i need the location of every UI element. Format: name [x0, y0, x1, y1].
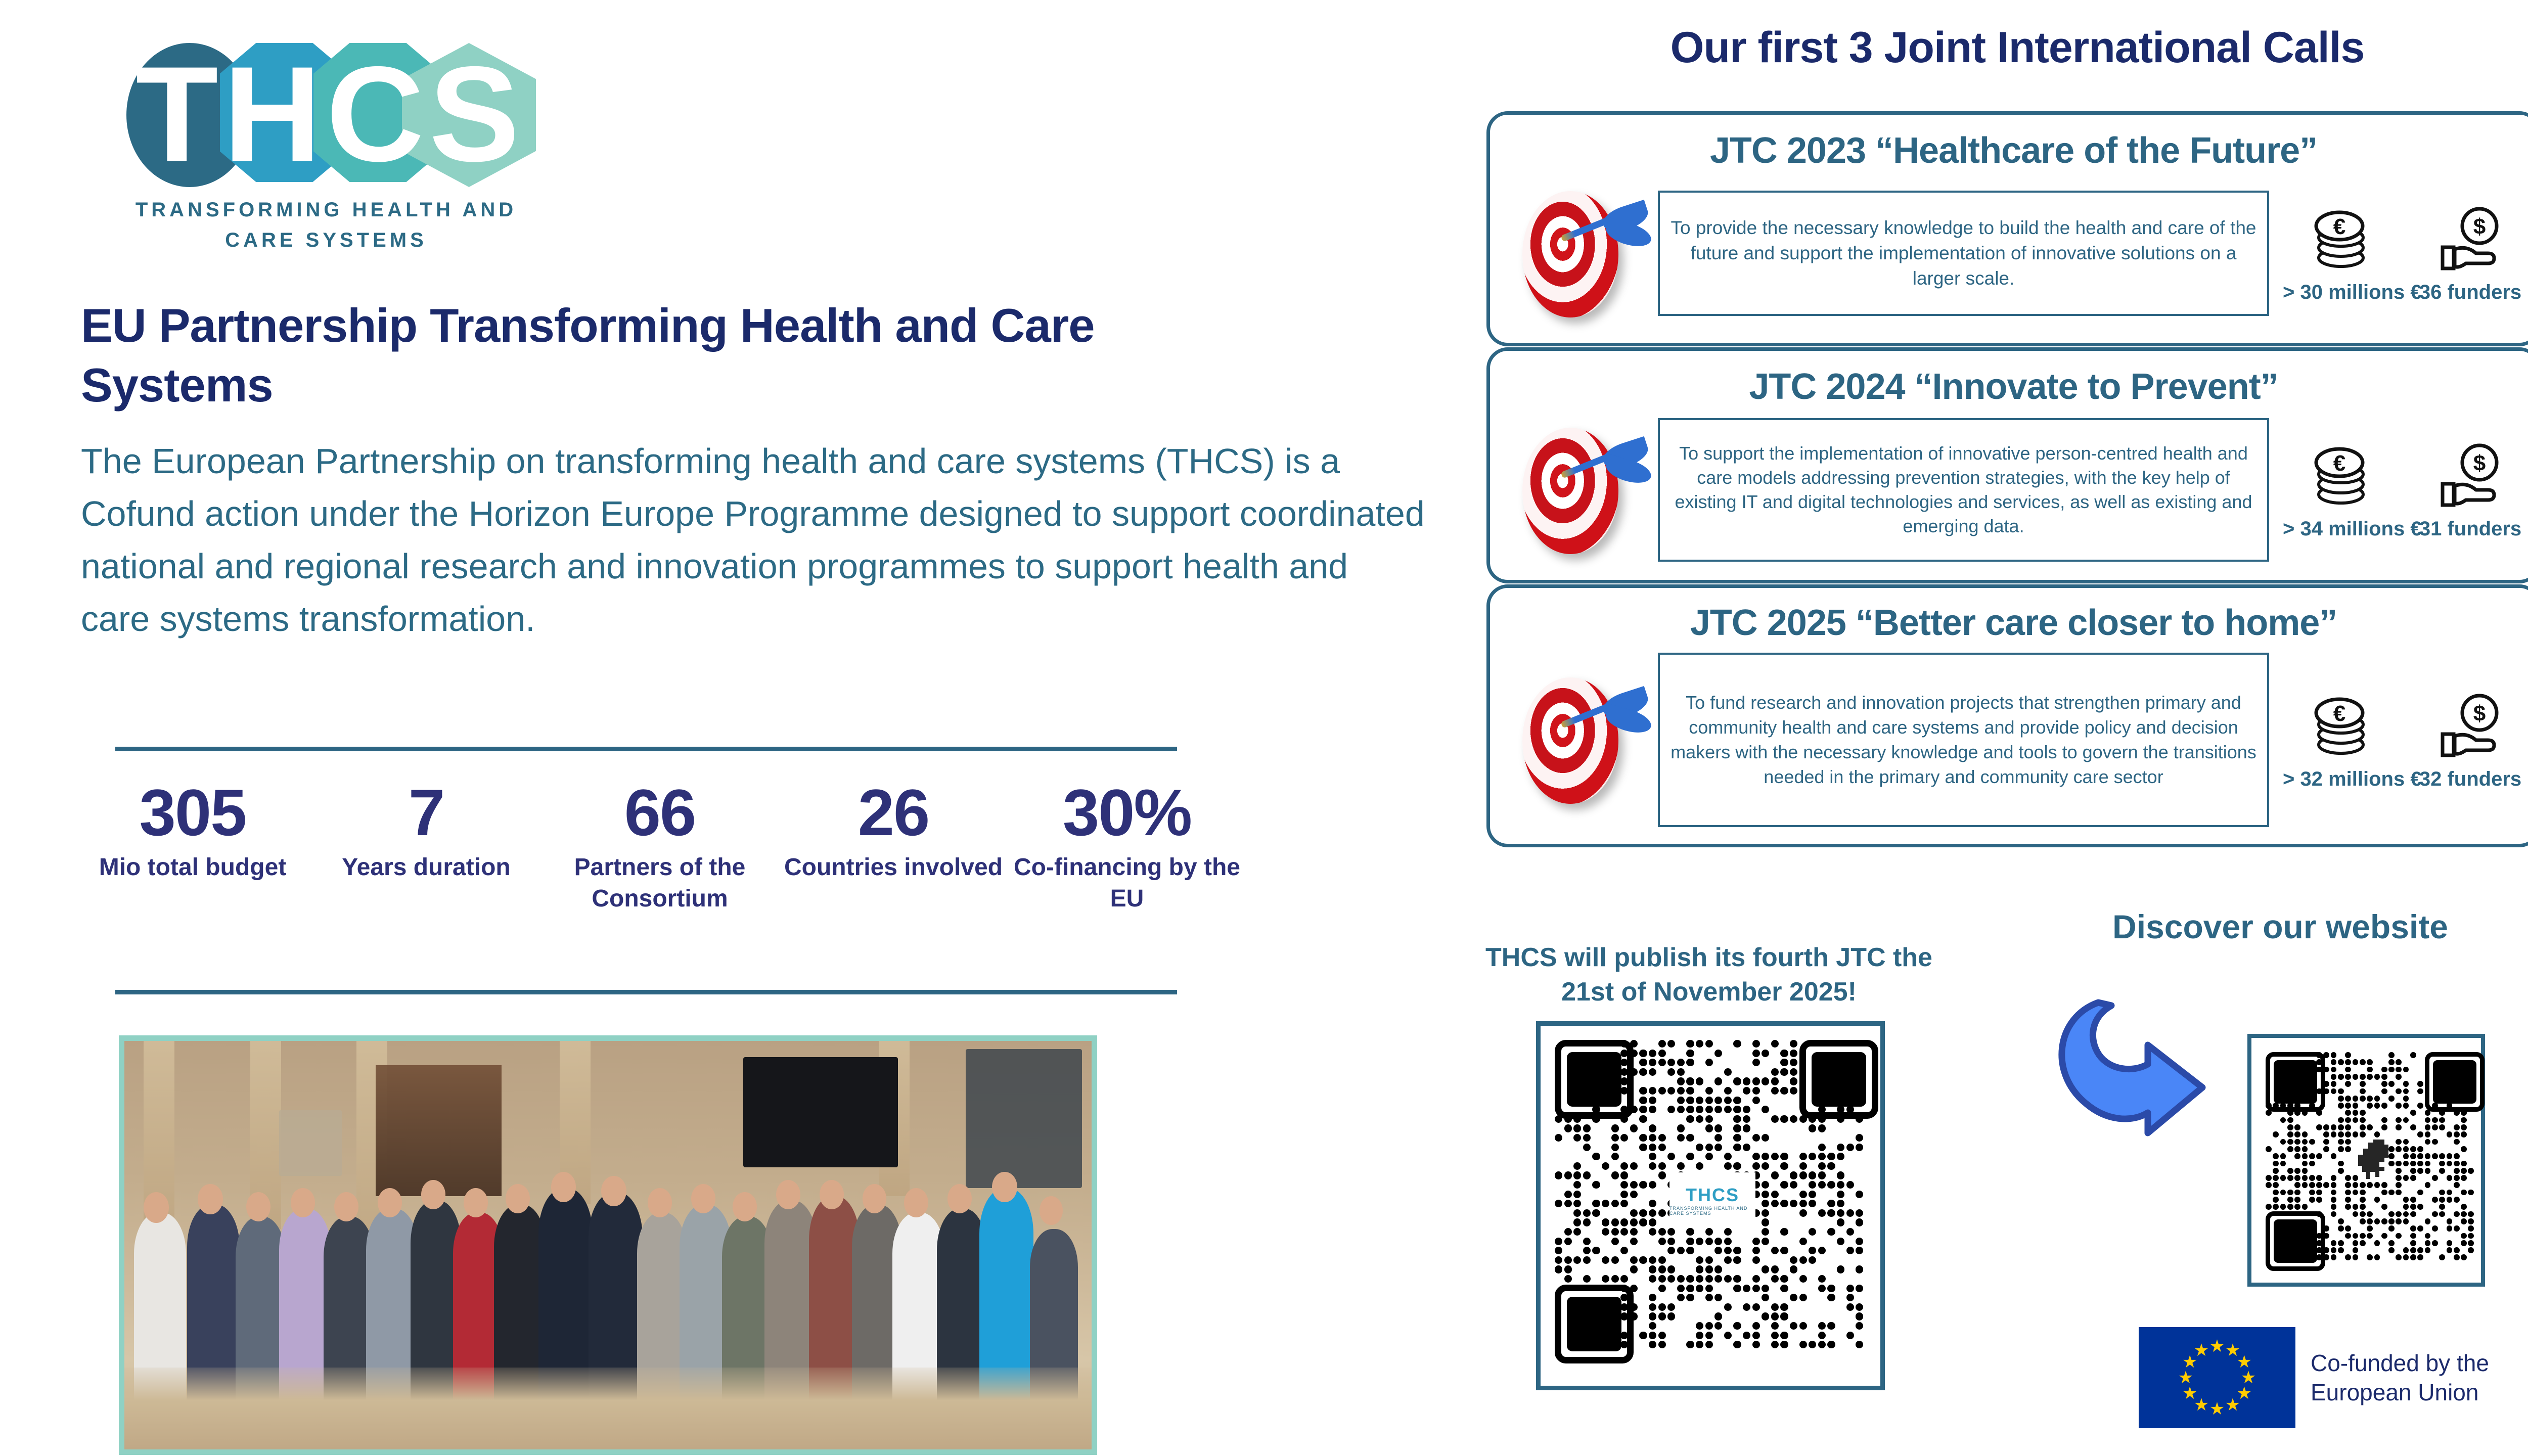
- stat-label: Mio total budget: [76, 852, 309, 883]
- funders-figure: $ 31 funders: [2412, 439, 2528, 540]
- svg-text:€: €: [2333, 214, 2345, 239]
- qr-finder-pattern: [2425, 1052, 2485, 1112]
- hand-coin-icon: $: [2412, 202, 2528, 278]
- budget-figure: € > 30 millions €: [2283, 202, 2399, 304]
- funders-figure: $ 32 funders: [2412, 689, 2528, 791]
- eu-star-icon: ★: [2182, 1385, 2197, 1402]
- eu-cofunded-logo: ★★★★★★★★★★★★ Co-funded by the European U…: [2139, 1327, 2513, 1428]
- svg-text:$: $: [2473, 701, 2486, 726]
- funders-label: 36 funders: [2412, 281, 2528, 304]
- eu-star-icon: ★: [2209, 1400, 2225, 1418]
- call-card-jtc-2025[interactable]: JTC 2025 “Better care closer to home” To…: [1486, 584, 2528, 847]
- hand-coin-icon: $: [2412, 689, 2528, 765]
- qr-code-website[interactable]: [2247, 1034, 2485, 1287]
- group-photo: [119, 1035, 1097, 1455]
- funders-label: 32 funders: [2412, 768, 2528, 791]
- qr-finder-pattern: [1555, 1285, 1634, 1363]
- stat-label: Countries involved: [777, 852, 1010, 883]
- stat-label: Co-financing by the EU: [1010, 852, 1244, 915]
- divider-top: [115, 747, 1177, 751]
- call-card-title: JTC 2024 “Innovate to Prevent”: [1490, 366, 2528, 407]
- budget-figure: € > 34 millions €: [2283, 439, 2399, 540]
- qr-code-jtc[interactable]: THCS TRANSFORMING HEALTH AND CARE SYSTEM…: [1536, 1021, 1885, 1390]
- stat-value: 26: [777, 779, 1010, 847]
- euro-coins-icon: €: [2283, 202, 2399, 278]
- curved-arrow-icon: [2043, 988, 2215, 1140]
- euro-coins-icon: €: [2283, 439, 2399, 515]
- stat-value: 305: [76, 779, 309, 847]
- divider-bottom: [115, 990, 1177, 994]
- target-icon: [1501, 180, 1653, 327]
- logo-tagline: TRANSFORMING HEALTH AND CARE SYSTEMS: [129, 195, 523, 255]
- svg-text:$: $: [2473, 451, 2486, 476]
- qr-finder-pattern: [2266, 1211, 2325, 1271]
- eu-flag: ★★★★★★★★★★★★: [2139, 1327, 2295, 1428]
- call-card-title: JTC 2025 “Better care closer to home”: [1490, 602, 2528, 644]
- stat-value: 30%: [1010, 779, 1244, 847]
- call-description: To provide the necessary knowledge to bu…: [1658, 191, 2269, 316]
- call-card-jtc-2024[interactable]: JTC 2024 “Innovate to Prevent” To suppor…: [1486, 347, 2528, 583]
- stat-value: 7: [309, 779, 543, 847]
- intro-paragraph: The European Partnership on transforming…: [81, 435, 1426, 645]
- eu-star-icon: ★: [2194, 1342, 2209, 1359]
- call-card-title: JTC 2023 “Healthcare of the Future”: [1490, 130, 2528, 171]
- budget-label: > 34 millions €: [2283, 518, 2399, 540]
- page-title: EU Partnership Transforming Health and C…: [81, 296, 1294, 415]
- svg-text:€: €: [2333, 451, 2345, 476]
- key-figures: 305 Mio total budget 7 Years duration 66…: [76, 779, 1244, 981]
- budget-label: > 32 millions €: [2283, 768, 2399, 791]
- funders-label: 31 funders: [2412, 518, 2528, 540]
- eu-cofunded-text: Co-funded by the European Union: [2311, 1348, 2513, 1407]
- euro-coins-icon: €: [2283, 689, 2399, 765]
- qr-finder-pattern: [1555, 1040, 1634, 1119]
- stat-partners: 66 Partners of the Consortium: [543, 779, 777, 981]
- stat-countries: 26 Countries involved: [777, 779, 1010, 981]
- qr-finder-pattern: [1799, 1040, 1878, 1119]
- stat-label: Years duration: [309, 852, 543, 883]
- stat-duration: 7 Years duration: [309, 779, 543, 981]
- jtc4-announcement: THCS will publish its fourth JTC the 21s…: [1456, 940, 1962, 1009]
- budget-label: > 30 millions €: [2283, 281, 2399, 304]
- qr-center-logo: THCS TRANSFORMING HEALTH AND CARE SYSTEM…: [1669, 1172, 1755, 1228]
- stat-label: Partners of the Consortium: [543, 852, 777, 915]
- call-description: To support the implementation of innovat…: [1658, 418, 2269, 562]
- call-description: To fund research and innovation projects…: [1658, 653, 2269, 827]
- stat-value: 66: [543, 779, 777, 847]
- hand-coin-icon: $: [2412, 439, 2528, 515]
- eu-star-icon: ★: [2178, 1369, 2193, 1386]
- call-card-jtc-2023[interactable]: JTC 2023 “Healthcare of the Future” To p…: [1486, 111, 2528, 346]
- eu-star-icon: ★: [2225, 1396, 2240, 1414]
- calls-section-title: Our first 3 Joint International Calls: [1497, 23, 2528, 73]
- funders-figure: $ 36 funders: [2412, 202, 2528, 304]
- dino-icon: [2350, 1136, 2396, 1187]
- svg-text:€: €: [2333, 701, 2345, 726]
- thcs-logo: THCS: [126, 38, 571, 190]
- qr-finder-pattern: [2266, 1052, 2325, 1112]
- group-photo-image: [124, 1041, 1092, 1449]
- qr-logo-text: THCS: [1686, 1185, 1739, 1206]
- stat-cofinancing: 30% Co-financing by the EU: [1010, 779, 1244, 981]
- qr-logo-sub: TRANSFORMING HEALTH AND CARE SYSTEMS: [1669, 1206, 1755, 1216]
- stat-budget: 305 Mio total budget: [76, 779, 309, 981]
- logo-lettermark: THCS: [126, 38, 571, 190]
- target-icon: [1501, 417, 1653, 563]
- target-icon: [1501, 666, 1653, 813]
- svg-text:$: $: [2473, 214, 2486, 239]
- discover-website-title: Discover our website: [2012, 907, 2528, 946]
- budget-figure: € > 32 millions €: [2283, 689, 2399, 791]
- eu-star-icon: ★: [2209, 1338, 2225, 1355]
